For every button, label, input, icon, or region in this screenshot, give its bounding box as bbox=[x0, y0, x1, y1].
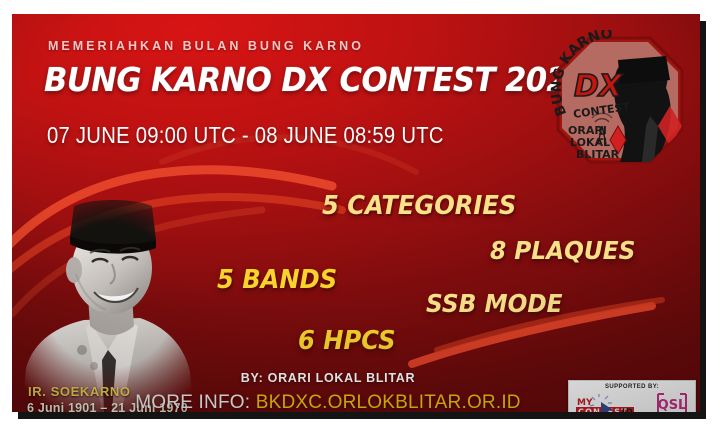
qsl-logo: QSL qsl.net bbox=[655, 392, 689, 412]
qsl-text: QSL bbox=[658, 398, 687, 412]
badge-dx-text: DX bbox=[574, 69, 624, 104]
more-info-label: MORE INFO: bbox=[135, 392, 250, 412]
kicker-text: MEMERIAHKAN BULAN BUNG KARNO bbox=[48, 39, 364, 53]
page-title: BUNG KARNO DX CONTEST 2025 bbox=[44, 60, 588, 99]
mycontestid-logo: MY CONTEST ID bbox=[575, 394, 647, 412]
supported-by-label: SUPPORTED BY: bbox=[569, 384, 695, 390]
date-range: 07 JUNE 09:00 UTC - 08 JUNE 08:59 UTC bbox=[47, 122, 444, 149]
feature-categories: 5 CATEGORIES bbox=[322, 191, 516, 221]
poster-stage: MEMERIAHKAN BULAN BUNG KARNO BUNG KARNO … bbox=[0, 0, 720, 432]
sponsor-box: SUPPORTED BY: MY CONTEST ID QSL bbox=[568, 380, 696, 412]
feature-plaques: 8 PLAQUES bbox=[490, 236, 635, 265]
badge-org-line-3: BLITAR bbox=[576, 148, 620, 161]
mycontestid-id: ID bbox=[622, 408, 634, 413]
more-info-url[interactable]: BKDXC.ORLOKBLITAR.OR.ID bbox=[256, 392, 521, 412]
feature-bands: 5 BANDS bbox=[217, 265, 337, 295]
mycontestid-my: MY bbox=[577, 398, 593, 408]
feature-mode: SSB MODE bbox=[426, 289, 563, 318]
organizer-text: BY: ORARI LOKAL BLITAR bbox=[241, 371, 415, 385]
feature-hpcs: 6 HPCS bbox=[298, 326, 396, 356]
poster-card: MEMERIAHKAN BULAN BUNG KARNO BUNG KARNO … bbox=[12, 14, 700, 412]
contest-badge-logo: BUNG KARNO DX CONTEST ORARI LOKAL BLITAR bbox=[550, 30, 690, 170]
